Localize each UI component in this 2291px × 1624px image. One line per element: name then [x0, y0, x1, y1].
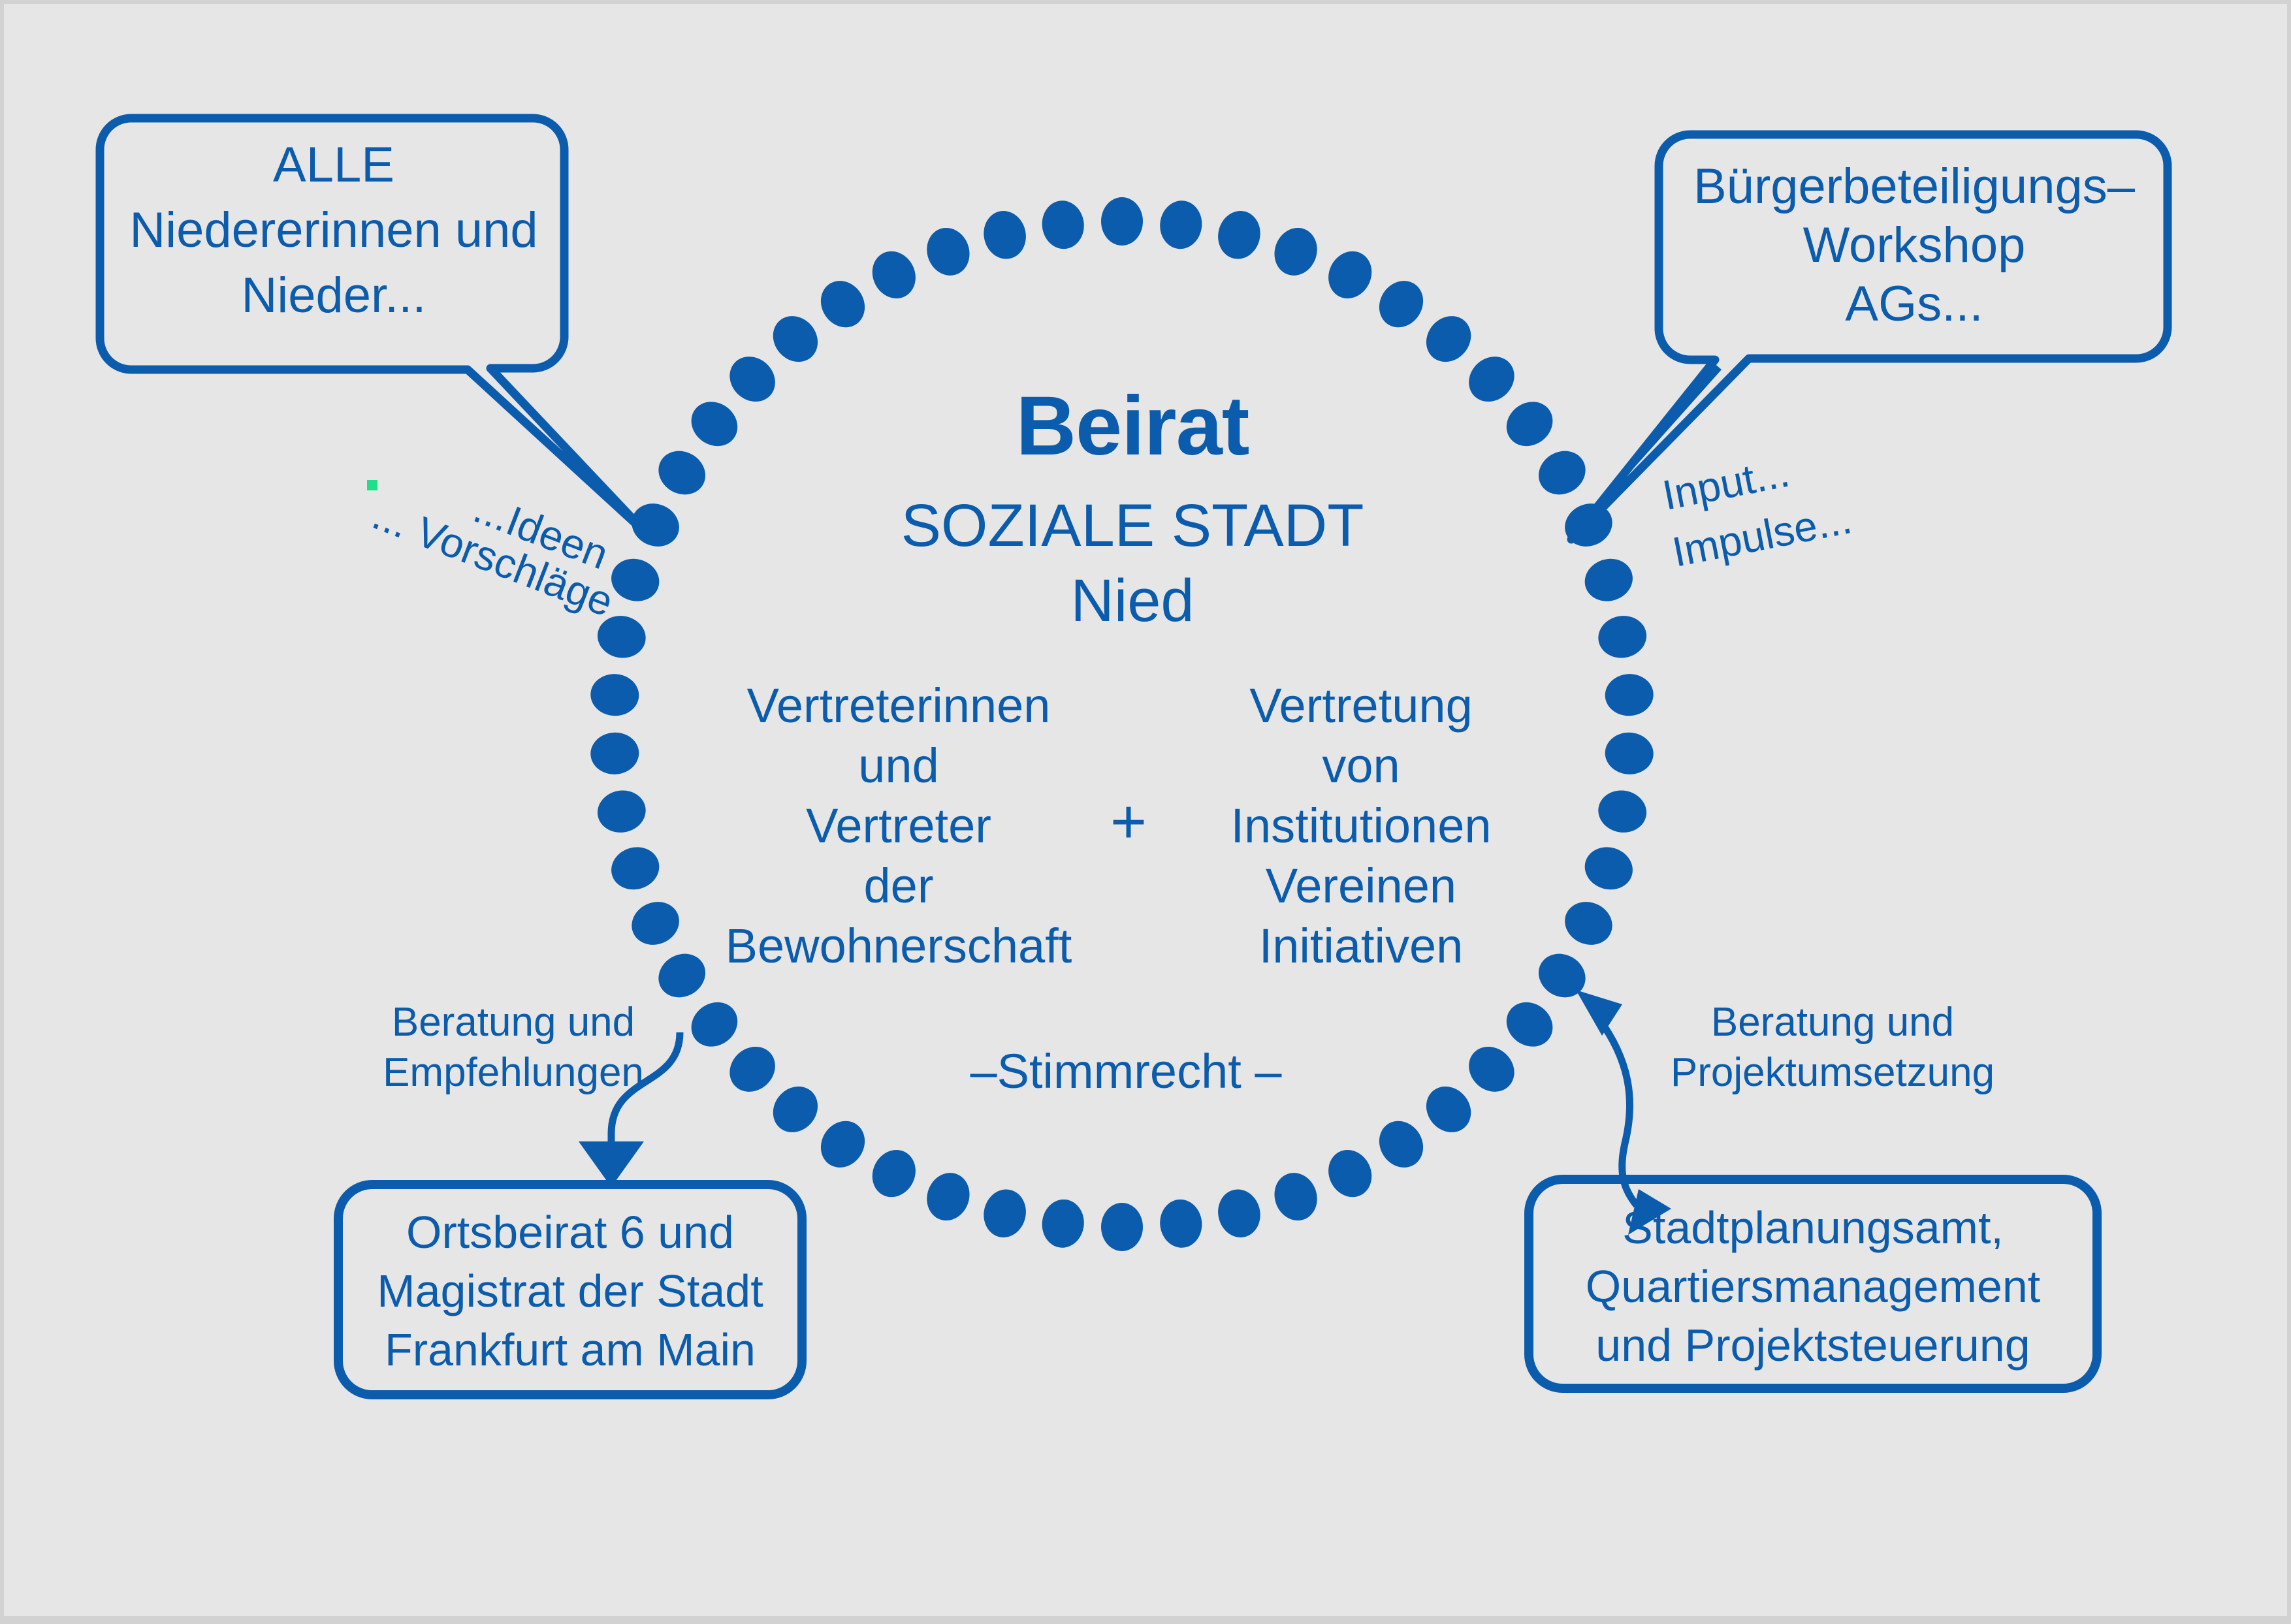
ring-dot — [1101, 1203, 1143, 1251]
diagram-canvas: Beirat SOZIALE STADT Nied Vertreterinnen… — [0, 0, 2291, 1620]
bubble-top-left-line-1: ALLE — [273, 137, 394, 193]
left-column-line-1: Vertreterinnen — [747, 678, 1051, 733]
box-bottom-right-line-1: Stadtplanungsamt, — [1622, 1202, 2004, 1253]
annotation-right-bottom-line-2: Projektumsetzung — [1671, 1050, 1995, 1095]
annotation-right-bottom: Beratung und Projektumsetzung — [1671, 1000, 1995, 1095]
ring-dot — [1268, 1167, 1323, 1226]
ring-dot — [764, 1077, 827, 1141]
left-column-line-5: Bewohnerschaft — [726, 919, 1072, 973]
ring-dot — [920, 222, 976, 281]
right-column-line-3: Institutionen — [1230, 799, 1491, 853]
double-arrow-stadtplanungsamt — [1576, 990, 1671, 1235]
ring-dot — [1321, 1143, 1379, 1205]
ring-dot — [1604, 731, 1655, 776]
ring-dot — [720, 1038, 784, 1101]
stimmrecht-label: –Stimmrecht – — [970, 1044, 1282, 1098]
ring-dot — [1370, 1113, 1432, 1176]
annotation-right-top: Input... Impulse... — [1659, 449, 1855, 576]
green-marker-dot — [367, 480, 377, 490]
right-column-line-5: Initiativen — [1259, 919, 1464, 973]
ring-dot — [1268, 222, 1323, 281]
ring-dot — [1370, 272, 1432, 336]
box-bottom-left-line-1: Ortsbeirat 6 und — [406, 1207, 734, 1258]
ring-dot — [1460, 347, 1524, 411]
ring-dot — [920, 1167, 976, 1226]
left-column-line-3: Vertreter — [806, 799, 991, 853]
plus-sign: + — [1110, 787, 1147, 857]
ring-dot — [650, 946, 713, 1006]
ring-dot — [1498, 993, 1562, 1056]
right-column-line-2: von — [1322, 739, 1400, 793]
annotation-right-bottom-line-1: Beratung und — [1711, 1000, 1954, 1045]
ring-dot — [979, 1185, 1031, 1242]
ring-dot — [865, 1143, 923, 1205]
ring-dot — [1604, 673, 1655, 717]
box-bottom-right-line-2: Quartiersmanagement — [1586, 1261, 2040, 1312]
box-bottom-left-line-3: Frankfurt am Main — [385, 1324, 756, 1375]
ring-dot — [1558, 895, 1619, 952]
ring-dot — [1157, 1197, 1204, 1250]
ring-dot — [764, 307, 827, 371]
ring-dot — [1531, 443, 1594, 503]
ring-dot — [590, 673, 641, 717]
ring-dot — [682, 993, 746, 1056]
ring-dot — [1417, 1077, 1481, 1141]
ring-dot — [1101, 197, 1143, 246]
bubble-top-right-line-1: Bürgerbeteiligungs– — [1693, 159, 2136, 214]
box-bottom-right-line-3: und Projektsteuerung — [1595, 1320, 2030, 1371]
ring-dot — [1213, 1185, 1265, 1242]
ring-dot — [1321, 244, 1379, 306]
ring-dot — [1595, 787, 1650, 836]
annotation-left-top: ...Ideen ... Vorschläge — [366, 480, 620, 626]
bubble-top-right-line-2: Workshop — [1803, 217, 2026, 273]
ring-dot — [650, 443, 713, 503]
left-column-line-2: und — [858, 739, 938, 793]
ring-dot — [625, 895, 686, 952]
box-bottom-right[interactable]: Stadtplanungsamt, Quartiersmanagement un… — [1529, 1179, 2097, 1388]
ring-dot — [682, 392, 746, 455]
ring-dot — [594, 787, 649, 836]
left-column-line-4: der — [864, 859, 934, 913]
ring-dot — [865, 244, 923, 306]
arrow-head-up-right — [1576, 990, 1622, 1036]
box-bottom-left-line-2: Magistrat der Stadt — [377, 1266, 763, 1316]
ring-dot — [1498, 392, 1562, 455]
box-bottom-left[interactable]: Ortsbeirat 6 und Magistrat der Stadt Fra… — [338, 1185, 802, 1395]
ring-dot — [1157, 199, 1204, 251]
ring-dot — [1213, 206, 1265, 263]
center-title: Beirat — [1016, 379, 1249, 473]
bubble-top-left-line-3: Nieder... — [241, 268, 426, 323]
beirat-soziale-stadt-diagram: Beirat SOZIALE STADT Nied Vertreterinnen… — [4, 4, 2291, 1624]
ring-dot — [979, 206, 1031, 263]
bubble-top-right-line-3: AGs... — [1845, 276, 1983, 332]
ring-dot — [812, 272, 873, 336]
right-column-line-4: Vereinen — [1266, 859, 1456, 913]
ring-dot — [1460, 1038, 1524, 1101]
center-subtitle-line2: Nied — [1070, 567, 1194, 634]
ring-dot — [1417, 307, 1481, 371]
bubble-top-left[interactable]: ALLE Niedererinnen und Nieder... — [100, 118, 647, 534]
ring-dot — [1040, 1197, 1087, 1250]
bubble-top-left-line-2: Niedererinnen und — [129, 202, 537, 258]
ring-dot — [720, 347, 784, 411]
annotation-right-top-line-1: Input... — [1659, 449, 1793, 519]
annotation-left-bottom: Beratung und Empfehlungen — [383, 1000, 644, 1095]
ring-dot — [590, 731, 641, 776]
ring-dot — [812, 1113, 873, 1176]
annotation-left-bottom-line-1: Beratung und — [392, 1000, 635, 1045]
ring-dot — [1580, 553, 1638, 607]
center-subtitle-line1: SOZIALE STADT — [901, 492, 1364, 559]
ring-dot — [606, 842, 664, 896]
ring-dot — [1580, 842, 1638, 896]
annotation-left-bottom-line-2: Empfehlungen — [383, 1050, 644, 1095]
right-column-line-1: Vertretung — [1249, 678, 1472, 733]
ring-dot — [1040, 199, 1087, 251]
ring-dot — [1595, 612, 1650, 661]
